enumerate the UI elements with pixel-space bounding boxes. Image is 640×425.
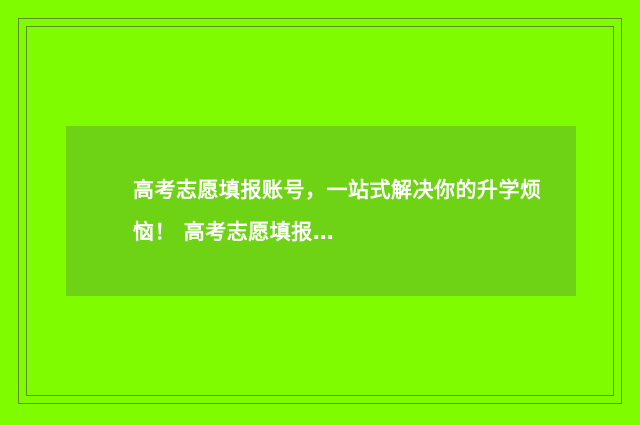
headline-panel[interactable]: 高考志愿填报账号，一站式解决你的升学烦恼！ 高考志愿填报… bbox=[66, 126, 576, 296]
headline-text: 高考志愿填报账号，一站式解决你的升学烦恼！ 高考志愿填报… bbox=[66, 169, 576, 253]
thumbnail-canvas: 高考志愿填报账号，一站式解决你的升学烦恼！ 高考志愿填报… bbox=[0, 0, 640, 425]
